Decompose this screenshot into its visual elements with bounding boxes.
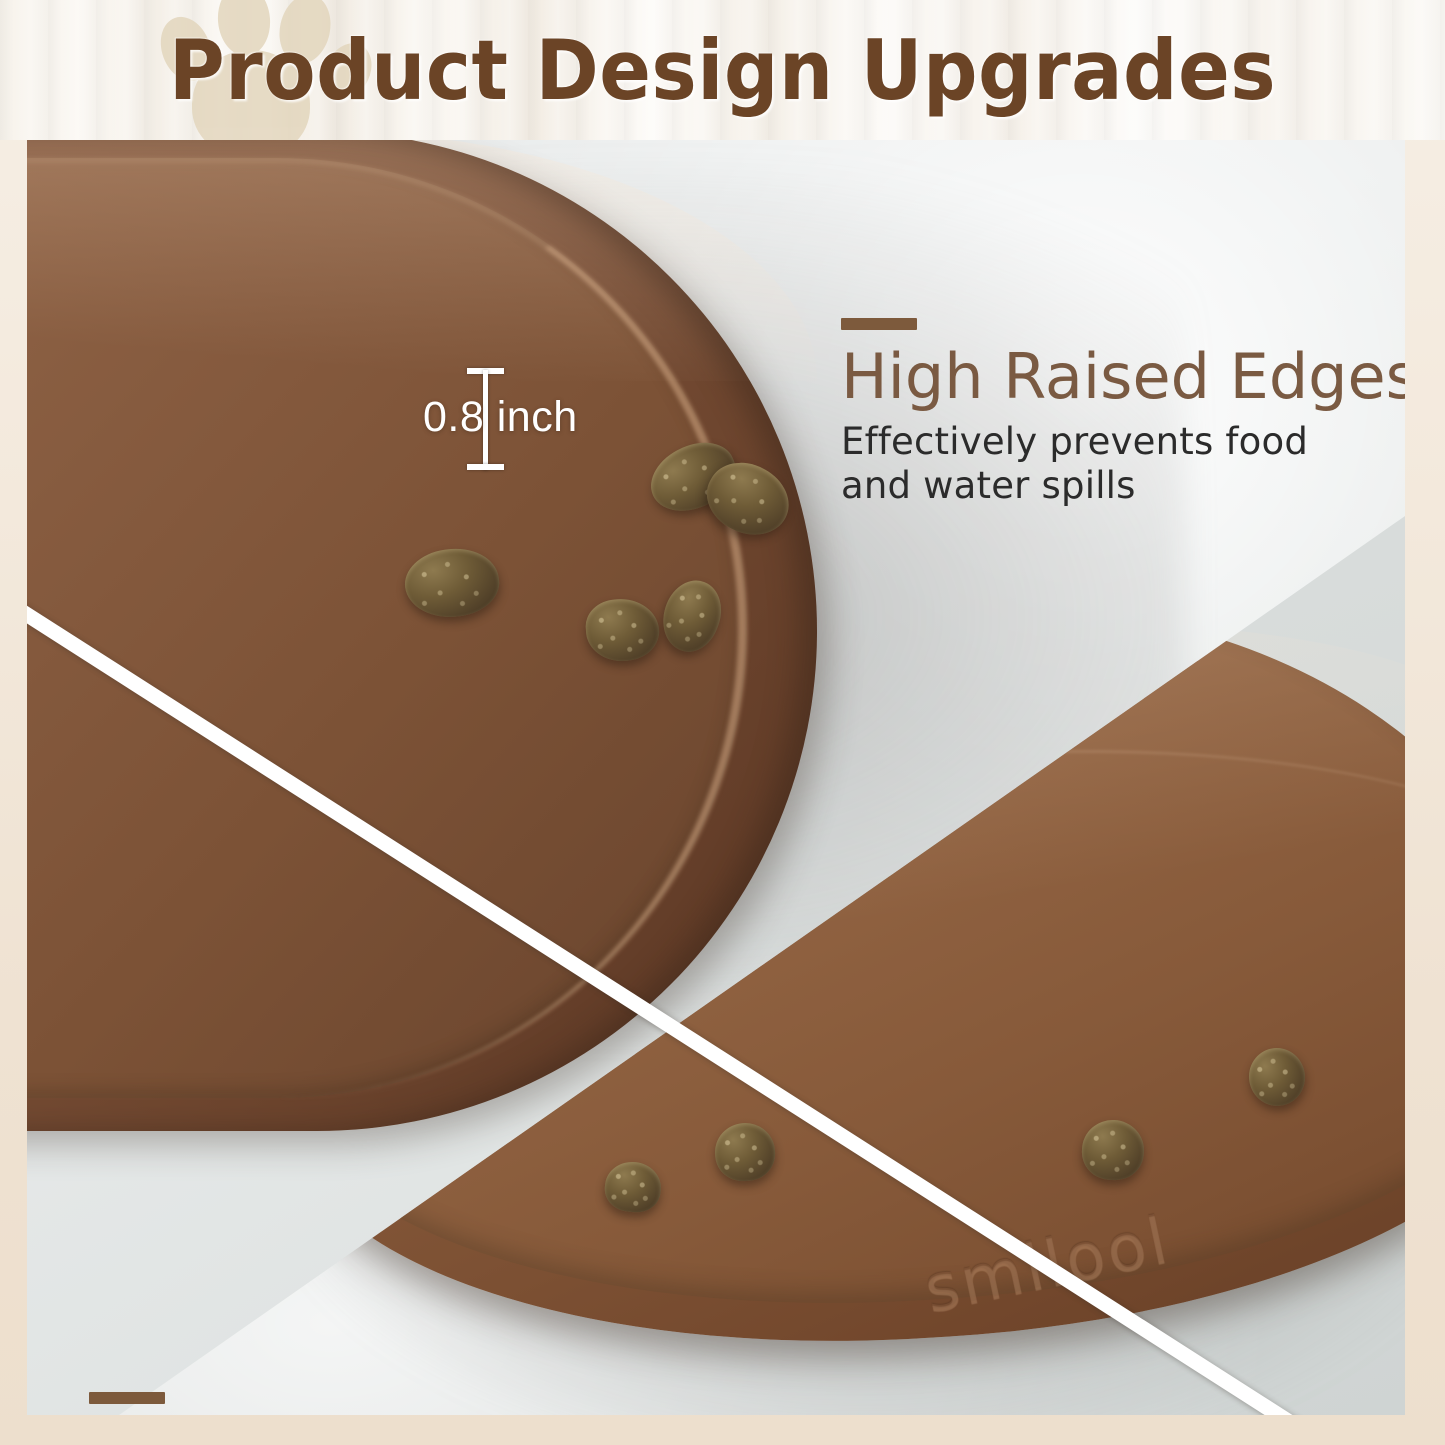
callout-subtitle: Effectively prevents food and water spil… bbox=[841, 420, 1405, 509]
dimension-cap-bottom bbox=[467, 464, 504, 470]
dimension-label: 0.8 inch bbox=[423, 393, 578, 442]
callout-subtitle-line: Effectively prevents food bbox=[841, 420, 1405, 464]
accent-rule-icon bbox=[89, 1392, 165, 1404]
product-infographic: Product Design Upgrades 0.8 inch bbox=[0, 0, 1445, 1445]
accent-rule-icon bbox=[841, 318, 917, 330]
page-title: Product Design Upgrades bbox=[0, 0, 1445, 140]
dimension-callout: 0.8 inch bbox=[451, 362, 631, 477]
header-banner: Product Design Upgrades bbox=[0, 0, 1445, 140]
callout-title: High Raised Edges bbox=[841, 344, 1405, 410]
callout-keeping-floor-clean: Keeping the floor clean Minimizes time s… bbox=[89, 1392, 994, 1415]
product-photo-frame: 0.8 inch smilool High Raised Edges bbox=[27, 140, 1405, 1415]
callout-subtitle-line: and water spills bbox=[841, 464, 1405, 508]
callout-high-raised-edges: High Raised Edges Effectively prevents f… bbox=[841, 318, 1405, 509]
